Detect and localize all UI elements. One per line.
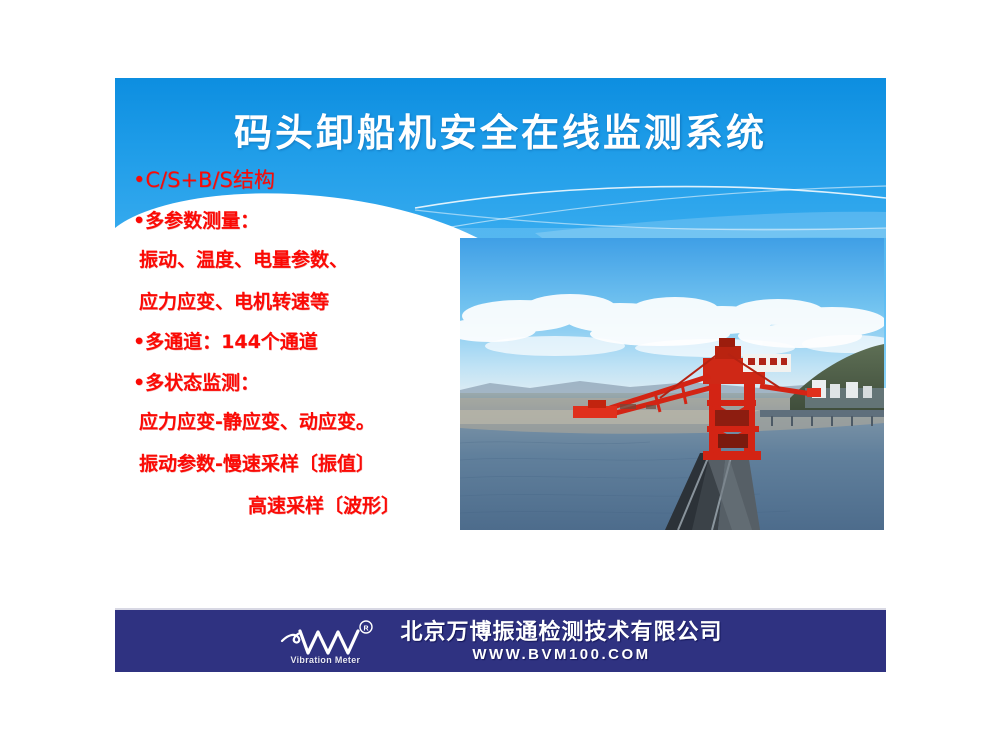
slide-canvas: 码头卸船机安全在线监测系统 •C/S+B/S结构 •多参数测量： 振动、温度、电… (115, 78, 886, 672)
bullet-line-6: •多状态监测： (133, 374, 259, 393)
crane-photo (460, 238, 884, 530)
bullet-line-8: 振动参数-慢速采样〔振值〕 (139, 455, 375, 474)
crane-photo-image (460, 238, 884, 530)
bullet-line-2: •多参数测量： (133, 212, 259, 231)
company-name: 北京万博振通检测技术有限公司 (400, 621, 722, 644)
footer-company-block: 北京万博振通检测技术有限公司 WWW.BVM100.COM (400, 621, 722, 662)
footer-banner: R Vibration Meter 北京万博振通检测技术有限公司 WWW.BVM… (115, 608, 886, 672)
bullet-line-1: •C/S+B/S结构 (133, 170, 275, 191)
page-title: 码头卸船机安全在线监测系统 (115, 102, 886, 157)
bullet-line-7: 应力应变-静应变、动应变。 (139, 413, 375, 432)
company-website: WWW.BVM100.COM (400, 646, 722, 663)
svg-text:R: R (364, 626, 369, 633)
bullet-line-3: 振动、温度、电量参数、 (139, 251, 348, 270)
vibration-meter-logo: R Vibration Meter (278, 619, 386, 665)
logo-subtitle: Vibration Meter (290, 655, 360, 665)
bullet-line-5: •多通道：144个通道 (133, 333, 318, 352)
bullet-line-9: 高速采样〔波形〕 (248, 497, 400, 516)
bullet-line-4: 应力应变、电机转速等 (139, 293, 329, 312)
